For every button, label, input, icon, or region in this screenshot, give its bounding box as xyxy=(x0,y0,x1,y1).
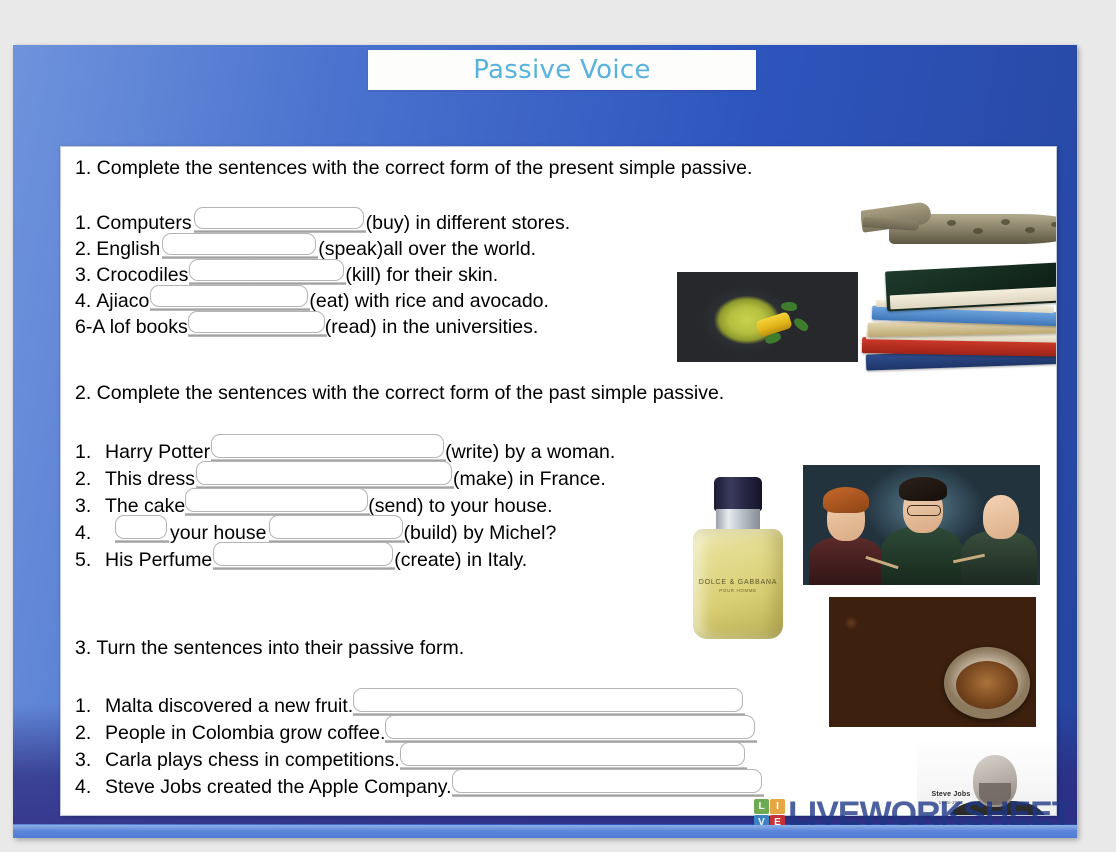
exercise-2-item-3: 3. The cake (send) to your house. xyxy=(75,488,553,518)
item-text-after: (read) in the universities. xyxy=(325,316,539,339)
harry-potter-photo xyxy=(803,465,1040,585)
harry-hair xyxy=(899,477,947,501)
item-text-before: English xyxy=(96,238,160,261)
item-text-before: Crocodiles xyxy=(96,264,188,287)
scale-spot xyxy=(973,228,983,234)
scale-spot xyxy=(947,220,956,226)
crocodile-photo xyxy=(861,192,1057,268)
answer-input-1-2[interactable] xyxy=(162,233,316,255)
exercise-3-prompt: 3. Turn the sentences into their passive… xyxy=(75,637,464,660)
scale-spot xyxy=(1025,227,1035,233)
answer-input-2-4b[interactable] xyxy=(269,515,403,539)
perfume-cap xyxy=(714,477,762,511)
answer-input-1-4[interactable] xyxy=(150,285,308,307)
item-text-after: (buy) in different stores. xyxy=(366,212,570,235)
exercise-1-prompt: 1. Complete the sentences with the corre… xyxy=(75,157,752,180)
exercise-2-item-2: 2. This dress (make) in France. xyxy=(75,461,606,491)
perfume-brand-label: DOLCE & GABBANA xyxy=(683,579,793,586)
coffee-liquid xyxy=(956,661,1018,709)
perfume-line-label: POUR HOMME xyxy=(683,588,793,593)
slide-bottom-bar xyxy=(13,825,1077,838)
answer-input-2-5[interactable] xyxy=(213,542,393,566)
perfume-collar xyxy=(716,509,760,531)
item-number: 5. xyxy=(75,549,105,572)
item-text-after: (eat) with rice and avocado. xyxy=(309,290,549,313)
exercise-3-item-3: 3. Carla plays chess in competitions. xyxy=(75,742,745,772)
scale-spot xyxy=(1051,222,1057,227)
herb-detail xyxy=(781,302,797,311)
item-number: 4. xyxy=(75,290,91,313)
crocodile-tail xyxy=(1056,218,1057,239)
ajiaco-soup-photo xyxy=(677,272,858,362)
item-number: 3. xyxy=(75,264,91,287)
exercise-2-item-1: 1. Harry Potter (write) by a woman. xyxy=(75,434,615,464)
answer-input-2-3[interactable] xyxy=(185,488,368,512)
answer-input-1-3[interactable] xyxy=(189,259,344,281)
answer-input-3-1[interactable] xyxy=(353,688,743,712)
answer-input-1-5[interactable] xyxy=(188,311,325,333)
exercise-3-item-1: 1. Malta discovered a new fruit. xyxy=(75,688,743,718)
item-number: 1. xyxy=(75,212,91,235)
answer-input-1-1[interactable] xyxy=(194,207,364,229)
answer-input-3-2[interactable] xyxy=(385,715,755,739)
stack-of-books-photo xyxy=(856,259,1057,379)
item-text-after: (kill) for their skin. xyxy=(345,264,498,287)
item-text-before: His Perfume xyxy=(105,549,212,572)
item-number: 2. xyxy=(75,238,91,261)
coffee-beans-photo xyxy=(829,597,1036,727)
item-text-before: A lof books xyxy=(92,316,187,339)
logo-tile-l: L xyxy=(754,799,769,814)
exercise-3-item-2: 2. People in Colombia grow coffee. xyxy=(75,715,755,745)
worksheet-slide: Passive Voice 1. Complete the sentences … xyxy=(13,45,1077,838)
logo-tile-i: I xyxy=(770,799,785,814)
exercise-1-item-4: 4. Ajiaco (eat) with rice and avocado. xyxy=(75,285,549,313)
item-text-before: Computers xyxy=(96,212,191,235)
exercise-3-item-4: 4. Steve Jobs created the Apple Company. xyxy=(75,769,762,799)
title-box: Passive Voice xyxy=(368,50,756,90)
item-text-after: (speak)all over the world. xyxy=(318,238,536,261)
harry-robe xyxy=(881,527,963,585)
page-title: Passive Voice xyxy=(473,55,651,85)
scale-spot xyxy=(1001,219,1010,225)
item-number: 6- xyxy=(75,316,92,339)
answer-input-3-3[interactable] xyxy=(400,742,745,766)
perfume-bottle-photo: DOLCE & GABBANA POUR HOMME xyxy=(683,467,793,647)
herb-detail xyxy=(792,316,810,333)
answer-input-2-2[interactable] xyxy=(196,461,452,485)
harry-glasses xyxy=(907,505,941,516)
exercise-2-item-5: 5. His Perfume (create) in Italy. xyxy=(75,542,527,572)
item-text-before: Ajiaco xyxy=(96,290,149,313)
answer-input-2-4a[interactable] xyxy=(115,515,167,539)
exercise-1-item-2: 2. English (speak)all over the world. xyxy=(75,233,536,261)
exercise-2-item-4: 4. your house (build) by Michel? xyxy=(75,515,556,545)
exercise-2-prompt: 2. Complete the sentences with the corre… xyxy=(75,382,724,405)
ron-hair xyxy=(823,487,869,513)
item-text-after: (create) in Italy. xyxy=(394,549,527,572)
item-text-before: Steve Jobs created the Apple Company. xyxy=(105,776,452,799)
hermione-face xyxy=(983,495,1019,539)
exercise-1-item-5: 6- A lof books (read) in the universitie… xyxy=(75,311,538,339)
exercise-1-item-1: 1. Computers (buy) in different stores. xyxy=(75,207,570,235)
item-number: 4. xyxy=(75,776,105,799)
worksheet-body: 1. Complete the sentences with the corre… xyxy=(60,146,1057,816)
exercise-1-item-3: 3. Crocodiles (kill) for their skin. xyxy=(75,259,498,287)
answer-input-3-4[interactable] xyxy=(452,769,762,793)
answer-input-2-1[interactable] xyxy=(211,434,444,458)
